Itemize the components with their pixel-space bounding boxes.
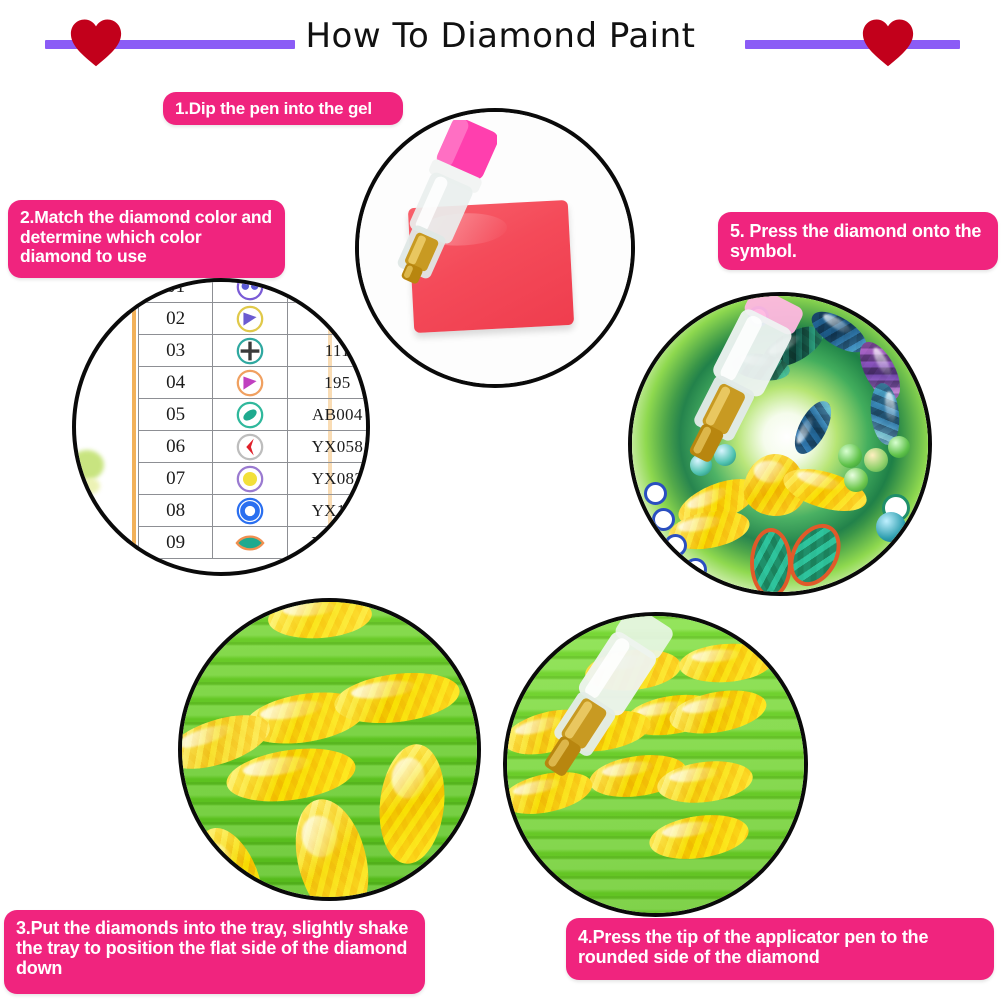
triangle-icon: [213, 303, 287, 335]
legend-row: 06YX058: [139, 431, 371, 463]
legend-row: 01028: [139, 278, 371, 303]
diamonds-in-tray-image: [182, 602, 477, 897]
step-2-label: 2.Match the diamond color and determine …: [8, 200, 285, 278]
pen-dipping-into-gel-image: [359, 112, 631, 384]
legend-number: 03: [139, 335, 213, 367]
step-3-photo: [178, 598, 481, 901]
legend-number: 05: [139, 399, 213, 431]
filled-circle-icon: [213, 463, 287, 495]
legend-number: 08: [139, 495, 213, 527]
legend-row: 05AB004: [139, 399, 371, 431]
legend-row: 04195: [139, 367, 371, 399]
plus-icon: [213, 335, 287, 367]
step-1-photo: [355, 108, 635, 388]
step-3-label: 3.Put the diamonds into the tray, slight…: [4, 910, 425, 994]
legend-row: 09YX125: [139, 527, 371, 559]
double-dot-icon: [213, 278, 287, 303]
pen-picking-diamond-image: [507, 616, 804, 913]
canvas-with-diamonds-image: [632, 296, 928, 592]
step-2-photo: 0102802093031110419505AB00406YX05807YX08…: [72, 278, 370, 576]
legend-row: 02093: [139, 303, 371, 335]
legend-number: 04: [139, 367, 213, 399]
page-title: How To Diamond Paint: [0, 16, 1001, 56]
legend-code: 195: [287, 367, 370, 399]
applicator-pen: [377, 120, 497, 310]
applicator-pen: [656, 296, 806, 512]
legend-code: YX058: [287, 431, 370, 463]
ring-icon: [213, 495, 287, 527]
legend-number: 07: [139, 463, 213, 495]
legend-code: 111: [287, 335, 370, 367]
legend-table: 0102802093031110419505AB00406YX05807YX08…: [138, 278, 370, 559]
infographic-page: How To Diamond Paint 1.Dip the pen into …: [0, 0, 1001, 1001]
step-5-photo: [628, 292, 932, 596]
color-legend-chart-image: 0102802093031110419505AB00406YX05807YX08…: [76, 282, 366, 572]
step-4-photo: [503, 612, 808, 917]
applicator-pen: [513, 612, 673, 830]
legend-number: 02: [139, 303, 213, 335]
legend-code: 028: [287, 278, 370, 303]
triangle-icon: [213, 367, 287, 399]
legend-rows: 0102802093031110419505AB00406YX05807YX08…: [139, 278, 371, 559]
ellipse-icon: [213, 399, 287, 431]
header: How To Diamond Paint: [0, 0, 1001, 78]
legend-code: AB004: [287, 399, 370, 431]
legend-code: 093: [287, 303, 370, 335]
leaf-icon: [213, 527, 287, 559]
legend-row: 03111: [139, 335, 371, 367]
legend-code: YX125: [287, 527, 370, 559]
legend-code: YX106: [287, 495, 370, 527]
legend-number: 09: [139, 527, 213, 559]
legend-code: YX083: [287, 463, 370, 495]
step-5-label: 5. Press the diamond onto the symbol.: [718, 212, 998, 270]
arrow-left-icon: [213, 431, 287, 463]
legend-number: 01: [139, 278, 213, 303]
legend-row: 07YX083: [139, 463, 371, 495]
legend-number: 06: [139, 431, 213, 463]
step-4-label: 4.Press the tip of the applicator pen to…: [566, 918, 994, 980]
legend-row: 08YX106: [139, 495, 371, 527]
